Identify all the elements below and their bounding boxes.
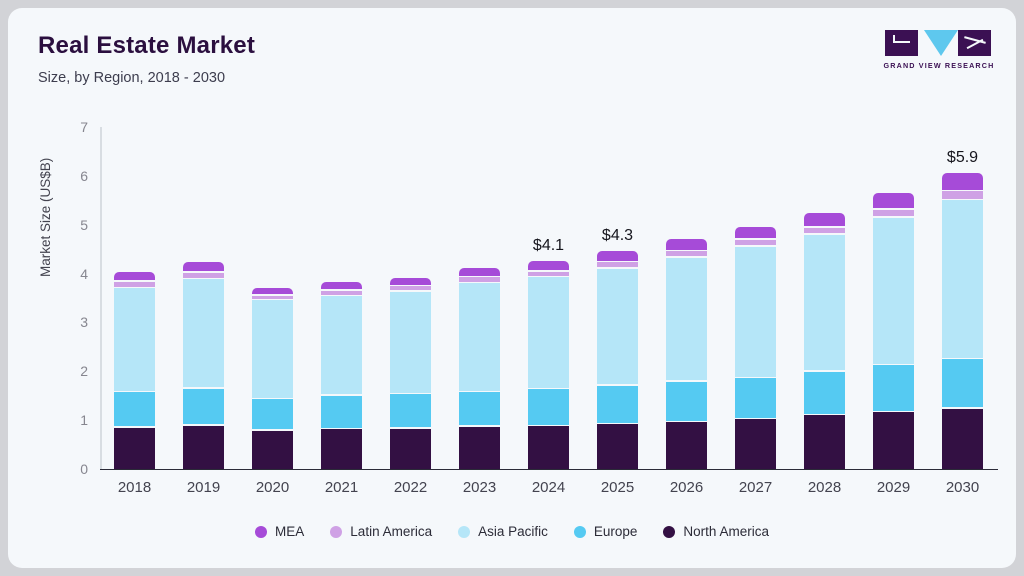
legend-label: North America	[683, 524, 769, 539]
bar-segment-2024-asia-pacific[interactable]	[528, 277, 569, 387]
bar-segment-2029-mea[interactable]	[873, 193, 914, 208]
logo-g-block	[885, 30, 918, 56]
legend-item-mea[interactable]: MEA	[255, 524, 304, 539]
bar-segment-2029-asia-pacific[interactable]	[873, 218, 914, 364]
x-axis-tick-2022: 2022	[390, 479, 431, 496]
legend-swatch-icon	[663, 526, 675, 538]
bar-segment-2024-north-america[interactable]	[528, 426, 569, 469]
bar-segment-2025-europe[interactable]	[597, 386, 638, 423]
bar-segment-2018-north-america[interactable]	[114, 428, 155, 469]
legend-item-asia-pacific[interactable]: Asia Pacific	[458, 524, 548, 539]
bar-segment-2027-asia-pacific[interactable]	[735, 247, 776, 377]
bar-segment-2030-north-america[interactable]	[942, 409, 983, 469]
bar-2027[interactable]	[735, 227, 776, 469]
plot-area: Market Size (US$B) 01234567 201820192020…	[100, 127, 998, 469]
bar-segment-2020-asia-pacific[interactable]	[252, 300, 293, 397]
bar-2022[interactable]	[390, 278, 431, 469]
bar-segment-2019-north-america[interactable]	[183, 426, 224, 469]
legend-item-europe[interactable]: Europe	[574, 524, 638, 539]
bar-segment-2019-asia-pacific[interactable]	[183, 279, 224, 387]
logo-g-notch2-icon	[893, 35, 895, 43]
x-axis-tick-2019: 2019	[183, 479, 224, 496]
bar-segment-2026-mea[interactable]	[666, 239, 707, 250]
bar-segment-2022-europe[interactable]	[390, 394, 431, 427]
bar-segment-2030-europe[interactable]	[942, 359, 983, 407]
bar-segment-2025-mea[interactable]	[597, 251, 638, 261]
bar-segment-2026-europe[interactable]	[666, 382, 707, 421]
x-axis-tick-2025: 2025	[597, 479, 638, 496]
y-axis-tick-0: 0	[80, 461, 88, 477]
x-axis-tick-2028: 2028	[804, 479, 845, 496]
logo-text: GRAND VIEW RESEARCH	[880, 61, 998, 70]
x-axis-tick-2029: 2029	[873, 479, 914, 496]
bar-segment-2030-asia-pacific[interactable]	[942, 200, 983, 357]
bar-segment-2028-asia-pacific[interactable]	[804, 235, 845, 370]
y-axis-tick-6: 6	[80, 168, 88, 184]
bar-segment-2018-asia-pacific[interactable]	[114, 288, 155, 391]
bar-2025[interactable]	[597, 251, 638, 469]
logo-marks	[880, 30, 998, 56]
x-axis-tick-2020: 2020	[252, 479, 293, 496]
x-axis-tick-2026: 2026	[666, 479, 707, 496]
bar-segment-2019-europe[interactable]	[183, 389, 224, 424]
legend-label: Europe	[594, 524, 638, 539]
bar-2028[interactable]	[804, 213, 845, 469]
bar-2021[interactable]	[321, 282, 362, 469]
bar-segment-2018-mea[interactable]	[114, 272, 155, 280]
bar-2020[interactable]	[252, 288, 293, 469]
legend-label: MEA	[275, 524, 304, 539]
bar-2018[interactable]	[114, 272, 155, 469]
legend-item-north-america[interactable]: North America	[663, 524, 769, 539]
x-axis-tick-2030: 2030	[942, 479, 983, 496]
bar-segment-2027-mea[interactable]	[735, 227, 776, 239]
bar-segment-2028-europe[interactable]	[804, 372, 845, 414]
x-axis-tick-2024: 2024	[528, 479, 569, 496]
bar-segment-2021-mea[interactable]	[321, 282, 362, 289]
y-axis-tick-5: 5	[80, 217, 88, 233]
bar-segment-2025-asia-pacific[interactable]	[597, 269, 638, 385]
bar-segment-2028-mea[interactable]	[804, 213, 845, 226]
legend-swatch-icon	[255, 526, 267, 538]
y-axis-tick-4: 4	[80, 266, 88, 282]
bar-segment-2020-europe[interactable]	[252, 399, 293, 429]
x-axis-tick-2027: 2027	[735, 479, 776, 496]
chart-card: Real Estate Market Size, by Region, 2018…	[8, 8, 1016, 568]
x-axis-tick-2018: 2018	[114, 479, 155, 496]
grand-view-research-logo: GRAND VIEW RESEARCH	[880, 30, 998, 72]
y-axis-line	[100, 127, 102, 469]
data-label-2025: $4.3	[583, 227, 653, 245]
page-title: Real Estate Market	[38, 32, 255, 60]
bar-segment-2029-latin-america[interactable]	[873, 210, 914, 217]
y-axis-tick-1: 1	[80, 412, 88, 428]
x-axis-tick-2021: 2021	[321, 479, 362, 496]
bar-segment-2021-north-america[interactable]	[321, 429, 362, 469]
legend-swatch-icon	[330, 526, 342, 538]
bar-2023[interactable]	[459, 268, 500, 469]
data-label-2024: $4.1	[514, 237, 584, 255]
y-axis-tick-7: 7	[80, 119, 88, 135]
legend-item-latin-america[interactable]: Latin America	[330, 524, 432, 539]
bar-segment-2021-asia-pacific[interactable]	[321, 296, 362, 394]
legend-label: Latin America	[350, 524, 432, 539]
bar-segment-2023-mea[interactable]	[459, 268, 500, 276]
bar-segment-2026-north-america[interactable]	[666, 422, 707, 469]
bar-segment-2027-north-america[interactable]	[735, 419, 776, 469]
bar-segment-2025-north-america[interactable]	[597, 424, 638, 469]
bar-segment-2024-europe[interactable]	[528, 389, 569, 424]
logo-g-notch-icon	[893, 41, 910, 43]
bar-2026[interactable]	[666, 239, 707, 469]
y-axis-tick-2: 2	[80, 363, 88, 379]
bar-segment-2026-asia-pacific[interactable]	[666, 258, 707, 380]
bar-segment-2019-mea[interactable]	[183, 262, 224, 271]
bar-2029[interactable]	[873, 193, 914, 469]
legend-label: Asia Pacific	[478, 524, 548, 539]
bar-segment-2030-mea[interactable]	[942, 173, 983, 190]
bar-segment-2023-asia-pacific[interactable]	[459, 283, 500, 390]
chart-legend: MEALatin AmericaAsia PacificEuropeNorth …	[8, 524, 1016, 539]
bar-2019[interactable]	[183, 262, 224, 469]
legend-swatch-icon	[458, 526, 470, 538]
x-axis-tick-2023: 2023	[459, 479, 500, 496]
bar-segment-2029-north-america[interactable]	[873, 412, 914, 469]
bar-segment-2022-asia-pacific[interactable]	[390, 292, 431, 393]
bar-segment-2028-north-america[interactable]	[804, 415, 845, 469]
legend-swatch-icon	[574, 526, 586, 538]
page-subtitle: Size, by Region, 2018 - 2030	[38, 70, 225, 86]
bar-segment-2024-mea[interactable]	[528, 261, 569, 270]
bar-segment-2027-europe[interactable]	[735, 378, 776, 418]
bar-segment-2022-mea[interactable]	[390, 278, 431, 285]
bar-segment-2021-europe[interactable]	[321, 396, 362, 428]
bar-segment-2023-north-america[interactable]	[459, 427, 500, 469]
bar-segment-2023-europe[interactable]	[459, 392, 500, 425]
bar-2024[interactable]	[528, 261, 569, 469]
bar-segment-2018-europe[interactable]	[114, 392, 155, 426]
bar-segment-2030-latin-america[interactable]	[942, 191, 983, 198]
data-label-2030: $5.9	[928, 149, 998, 167]
bar-segment-2022-north-america[interactable]	[390, 429, 431, 469]
bar-segment-2020-north-america[interactable]	[252, 431, 293, 469]
logo-v-triangle-icon	[924, 30, 958, 56]
y-axis-label: Market Size (US$B)	[38, 158, 53, 277]
bar-2030[interactable]	[942, 173, 983, 469]
y-axis-tick-3: 3	[80, 314, 88, 330]
bar-segment-2029-europe[interactable]	[873, 365, 914, 410]
